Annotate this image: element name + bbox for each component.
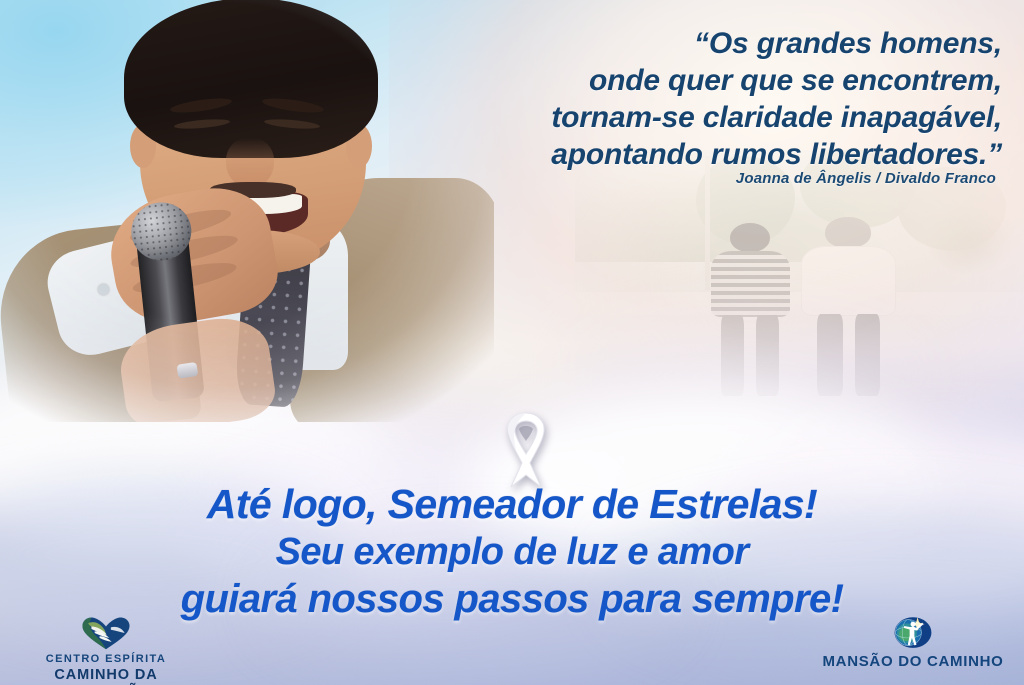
headline-block: Até logo, Semeador de Estrelas! Seu exem… — [0, 484, 1024, 619]
hair — [124, 0, 378, 158]
figure-white-body — [801, 246, 896, 316]
nose — [226, 138, 274, 188]
logo-left-line-1: CENTRO ESPÍRITA — [8, 653, 204, 667]
logo-left-line-2: CAMINHO DA REDENÇÃO — [8, 667, 204, 685]
quote-line-1: “Os grandes homens, — [372, 26, 1002, 63]
quote-line-2: onde quer que se encontrem, — [372, 63, 1002, 100]
figure-head — [730, 223, 770, 253]
quote-line-4: apontando rumos libertadores.” — [372, 137, 1002, 174]
globe-figure-star-icon — [890, 612, 936, 650]
logo-right-line-1: MANSÃO DO CAMINHO — [810, 653, 1016, 671]
heart-hands-icon — [80, 616, 132, 650]
memorial-poster: “Os grandes homens, onde quer que se enc… — [0, 0, 1024, 685]
logo-mansao-do-caminho: MANSÃO DO CAMINHO — [810, 612, 1016, 671]
cuff-button — [98, 284, 109, 295]
headline-line-2: Seu exemplo de luz e amor — [0, 533, 1024, 571]
headline-line-1: Até logo, Semeador de Estrelas! — [0, 484, 1024, 525]
quote-author: Joanna de Ângelis / Divaldo Franco — [356, 170, 996, 187]
figure-striped-body — [711, 251, 790, 317]
scene-palm-tree — [925, 206, 1015, 290]
ring — [177, 362, 199, 379]
mourning-ribbon-icon — [489, 405, 563, 491]
figure-head — [825, 217, 870, 247]
quote-text: “Os grandes homens, onde quer que se enc… — [372, 26, 1002, 174]
logo-centro-espirita: CENTRO ESPÍRITA CAMINHO DA REDENÇÃO — [8, 616, 204, 685]
quote-line-3: tornam-se claridade inapagável, — [372, 100, 1002, 137]
